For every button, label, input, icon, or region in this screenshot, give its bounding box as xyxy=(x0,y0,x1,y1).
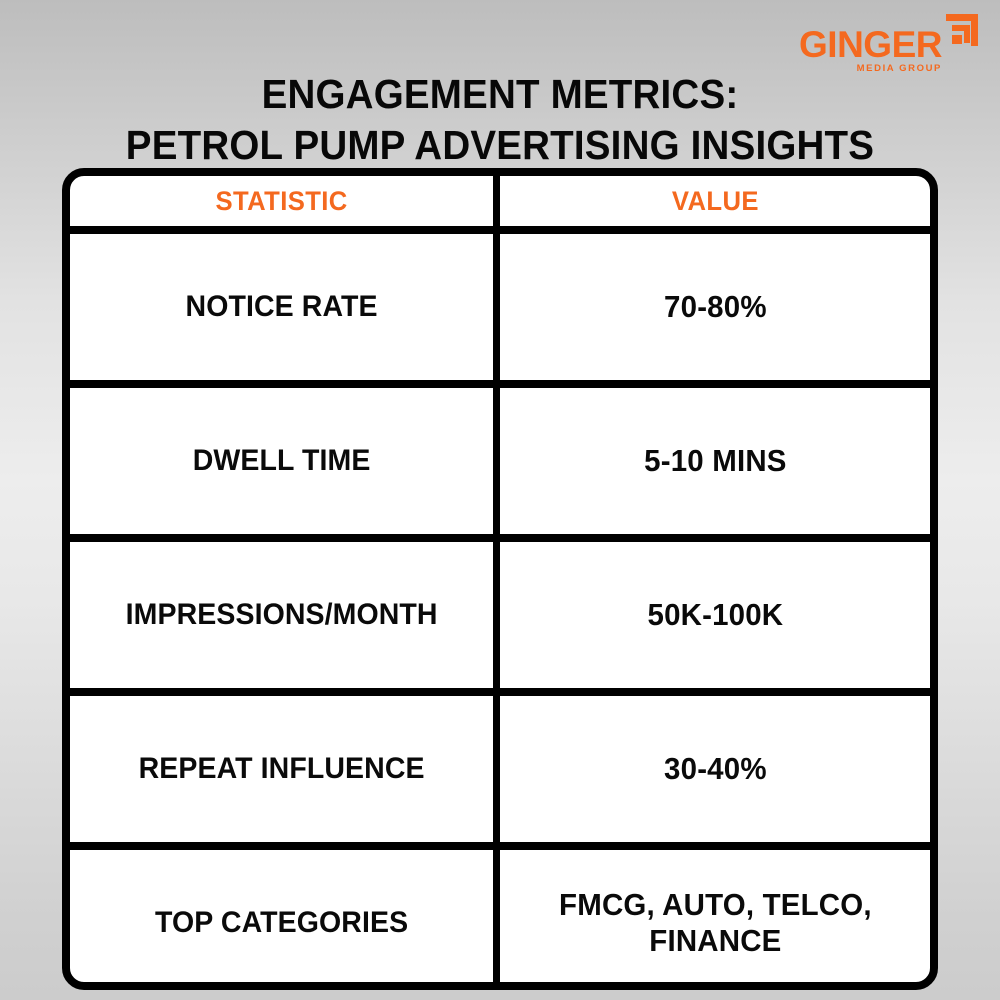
row-value: FMCG, AUTO, TELCO, FINANCE xyxy=(507,846,919,990)
stepped-chevron-logo-icon xyxy=(938,12,980,52)
brand-wordmark: GINGER xyxy=(792,26,942,63)
page-title-line-2: PETROL PUMP ADVERTISING INSIGHTS xyxy=(30,120,970,171)
table-row: IMPRESSIONS/MONTH 50K-100K xyxy=(70,538,930,692)
row-value: 5-10 MINS xyxy=(507,384,919,538)
page-title-line-1: ENGAGEMENT METRICS: xyxy=(30,69,970,120)
table-row: REPEAT INFLUENCE 30-40% xyxy=(70,692,930,846)
table-row: TOP CATEGORIES FMCG, AUTO, TELCO, FINANC… xyxy=(70,846,930,990)
page-title: ENGAGEMENT METRICS: PETROL PUMP ADVERTIS… xyxy=(30,69,970,171)
row-statistic-label: REPEAT INFLUENCE xyxy=(81,692,486,846)
table-header-row: STATISTIC VALUE xyxy=(70,176,930,230)
row-value: 70-80% xyxy=(507,230,919,384)
row-statistic-label: DWELL TIME xyxy=(81,384,486,538)
row-value: 50K-100K xyxy=(507,538,919,692)
engagement-metrics-table: STATISTIC VALUE NOTICE RATE 70-80% DWELL… xyxy=(70,176,930,990)
column-header-value: VALUE xyxy=(507,176,919,230)
table-row: DWELL TIME 5-10 MINS xyxy=(70,384,930,538)
row-statistic-label: TOP CATEGORIES xyxy=(81,846,486,990)
row-statistic-label: IMPRESSIONS/MONTH xyxy=(81,538,486,692)
table-row: NOTICE RATE 70-80% xyxy=(70,230,930,384)
row-statistic-label: NOTICE RATE xyxy=(81,230,486,384)
row-value: 30-40% xyxy=(507,692,919,846)
column-header-statistic: STATISTIC xyxy=(81,176,486,230)
metrics-table-container: STATISTIC VALUE NOTICE RATE 70-80% DWELL… xyxy=(62,168,938,990)
